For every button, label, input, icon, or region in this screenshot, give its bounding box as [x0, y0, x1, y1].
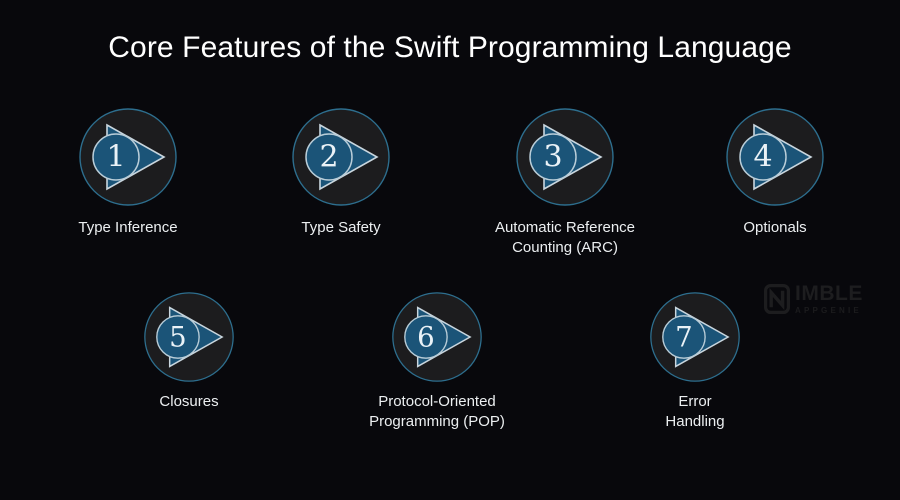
feature-label: Type Inference [23, 218, 233, 238]
feature-item[interactable]: 5Closures [84, 291, 294, 412]
page-title: Core Features of the Swift Programming L… [0, 31, 900, 65]
numbered-play-arrow-icon[interactable]: 1 [78, 107, 178, 207]
feature-item[interactable]: 4Optionals [670, 107, 880, 238]
icon-number-label: 3 [543, 140, 562, 175]
numbered-play-arrow-icon[interactable]: 7 [649, 291, 741, 383]
watermark-text: IMBLE APPGENIE [795, 283, 863, 315]
feature-item[interactable]: 1Type Inference [23, 107, 233, 238]
feature-item[interactable]: 3Automatic Reference Counting (ARC) [460, 107, 670, 258]
numbered-play-arrow-icon[interactable]: 3 [515, 107, 615, 207]
numbered-play-arrow-icon[interactable]: 2 [291, 107, 391, 207]
numbered-play-arrow-icon[interactable]: 4 [725, 107, 825, 207]
icon-number-label: 7 [675, 321, 693, 354]
icon-number-label: 5 [169, 321, 187, 354]
feature-label: Protocol-Oriented Programming (POP) [332, 392, 542, 432]
watermark-primary-text: IMBLE [795, 283, 863, 304]
numbered-play-arrow-icon[interactable]: 5 [143, 291, 235, 383]
feature-item[interactable]: 7Error Handling [590, 291, 800, 432]
icon-number-label: 4 [753, 140, 772, 175]
infographic-canvas: Core Features of the Swift Programming L… [0, 0, 900, 500]
numbered-play-arrow-icon[interactable]: 6 [391, 291, 483, 383]
feature-label: Automatic Reference Counting (ARC) [460, 218, 670, 258]
feature-label: Error Handling [590, 392, 800, 432]
feature-label: Optionals [670, 218, 880, 238]
icon-number-label: 2 [319, 140, 338, 175]
icon-number-label: 6 [417, 321, 435, 354]
icon-number-label: 1 [106, 140, 125, 175]
feature-label: Type Safety [236, 218, 446, 238]
feature-label: Closures [84, 392, 294, 412]
watermark-secondary-text: APPGENIE [795, 307, 863, 315]
feature-item[interactable]: 2Type Safety [236, 107, 446, 238]
feature-item[interactable]: 6Protocol-Oriented Programming (POP) [332, 291, 542, 432]
